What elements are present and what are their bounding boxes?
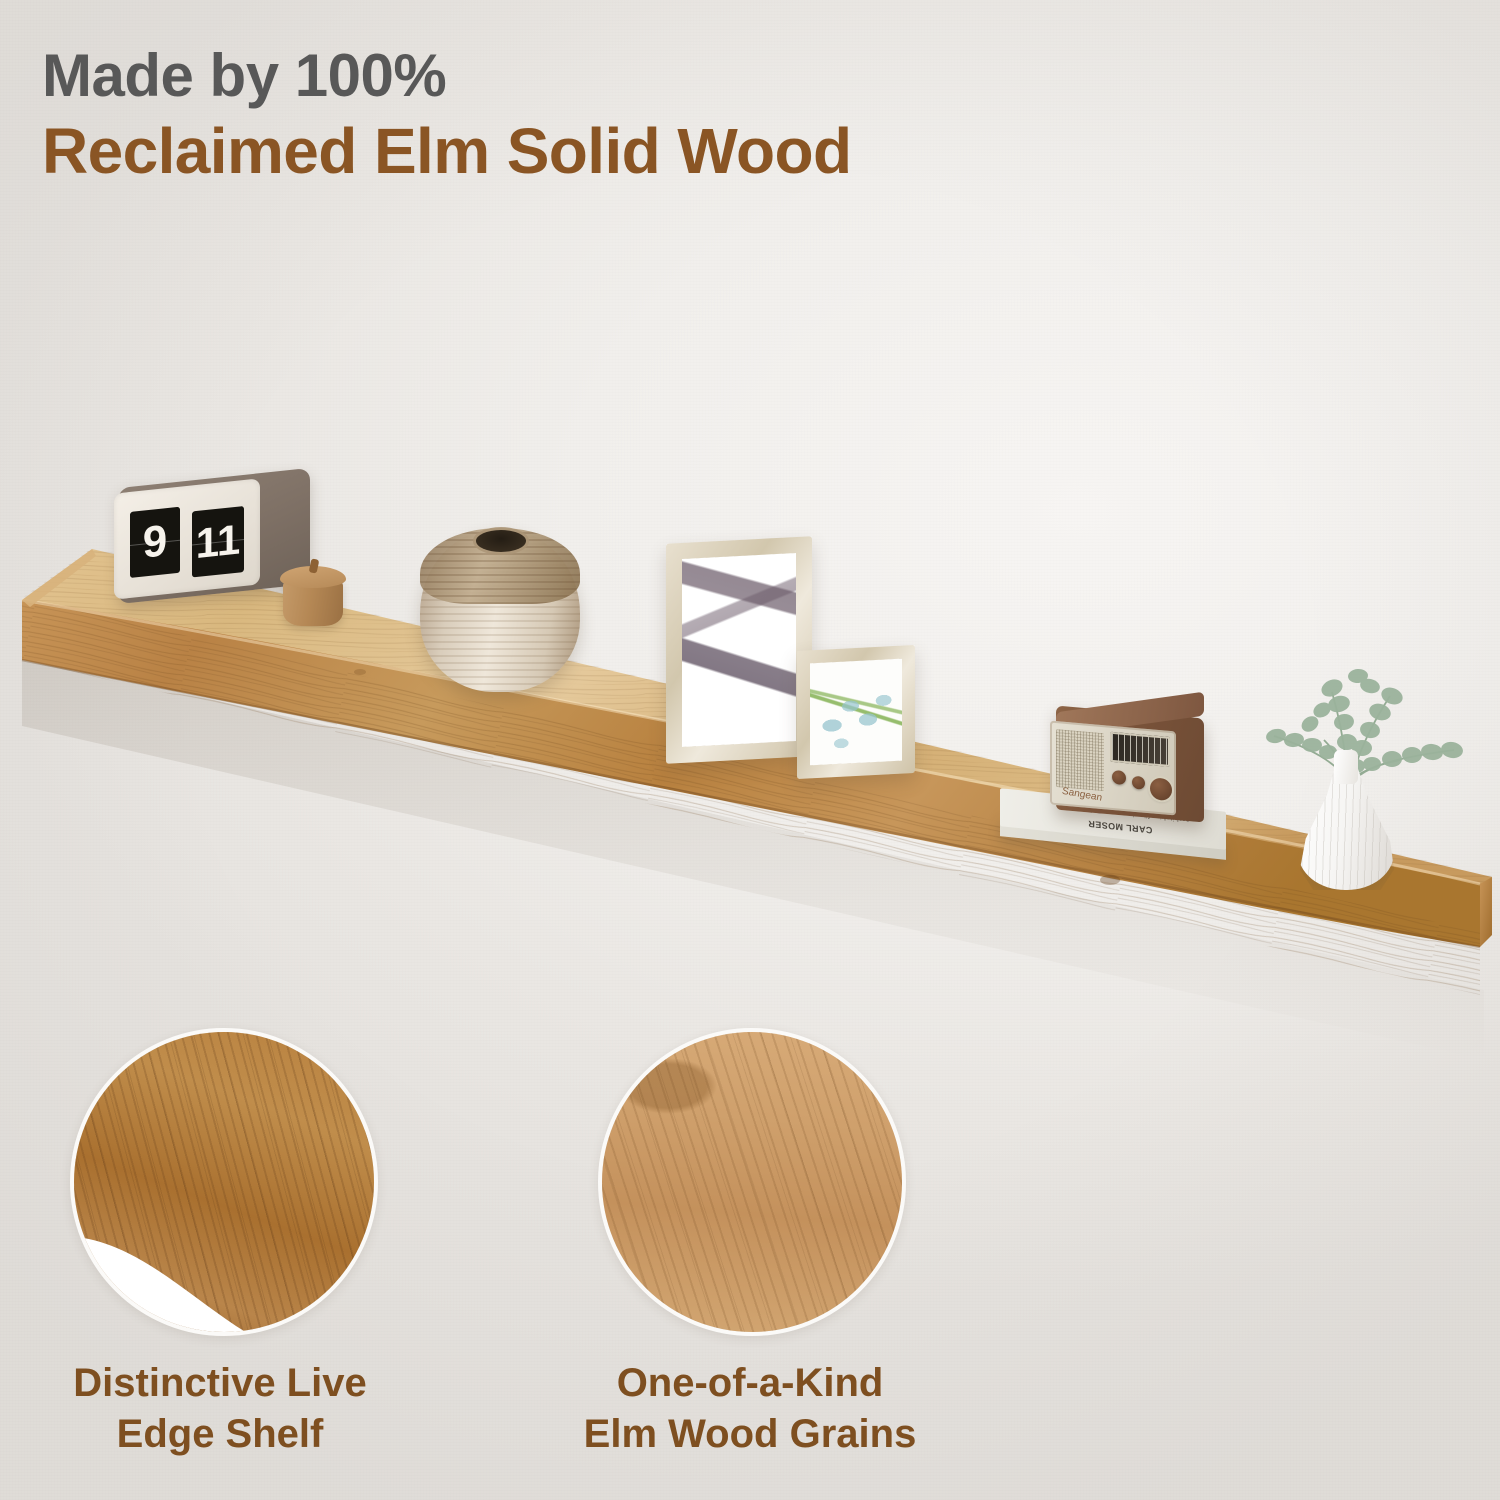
elm-grain-texture — [602, 1032, 902, 1332]
clock-hour-display: 9 — [130, 507, 180, 578]
radio-knob-band — [1132, 776, 1145, 790]
large-picture-frame — [666, 536, 812, 764]
lidded-wooden-pot — [280, 566, 346, 628]
caption-left-line-1: Distinctive Live — [73, 1361, 366, 1405]
white-ceramic-vase-with-eucalyptus — [1240, 600, 1500, 900]
caption-left-line-2: Edge Shelf — [20, 1409, 420, 1460]
feature-caption-wood-grain: One-of-a-Kind Elm Wood Grains — [500, 1358, 1000, 1460]
tuning-dial-display — [1110, 732, 1170, 767]
feature-caption-live-edge: Distinctive Live Edge Shelf — [20, 1358, 420, 1460]
frame-mat — [682, 553, 796, 747]
headline-block: Made by 100% Reclaimed Elm Solid Wood — [42, 44, 851, 187]
ribbed-ceramic-vase — [420, 528, 580, 692]
feature-inset-wood-grain — [598, 1028, 906, 1336]
small-picture-frame — [797, 645, 915, 779]
product-feature-image: Made by 100% Reclaimed Elm Solid Wood — [0, 0, 1500, 1500]
vase-neck — [1334, 750, 1358, 784]
botanical-artwork — [810, 659, 902, 766]
radio-knob-volume — [1112, 770, 1126, 785]
vase-opening — [476, 530, 526, 552]
headline-line-2: Reclaimed Elm Solid Wood — [42, 116, 851, 188]
radio-front-panel: Sangean — [1050, 720, 1176, 815]
headline-line-1: Made by 100% — [42, 44, 851, 108]
caption-right-line-2: Elm Wood Grains — [500, 1409, 1000, 1460]
speaker-grille-icon — [1056, 729, 1104, 791]
caption-right-line-1: One-of-a-Kind — [617, 1361, 884, 1405]
abstract-artwork — [682, 553, 796, 747]
radio-knob-tuning — [1150, 777, 1172, 801]
clock-face: 9 11 — [114, 478, 260, 599]
retro-wooden-radio: Sangean — [1040, 700, 1204, 820]
feature-inset-live-edge — [70, 1028, 378, 1336]
frame-mat — [810, 659, 902, 766]
clock-minute-display: 11 — [192, 506, 244, 577]
